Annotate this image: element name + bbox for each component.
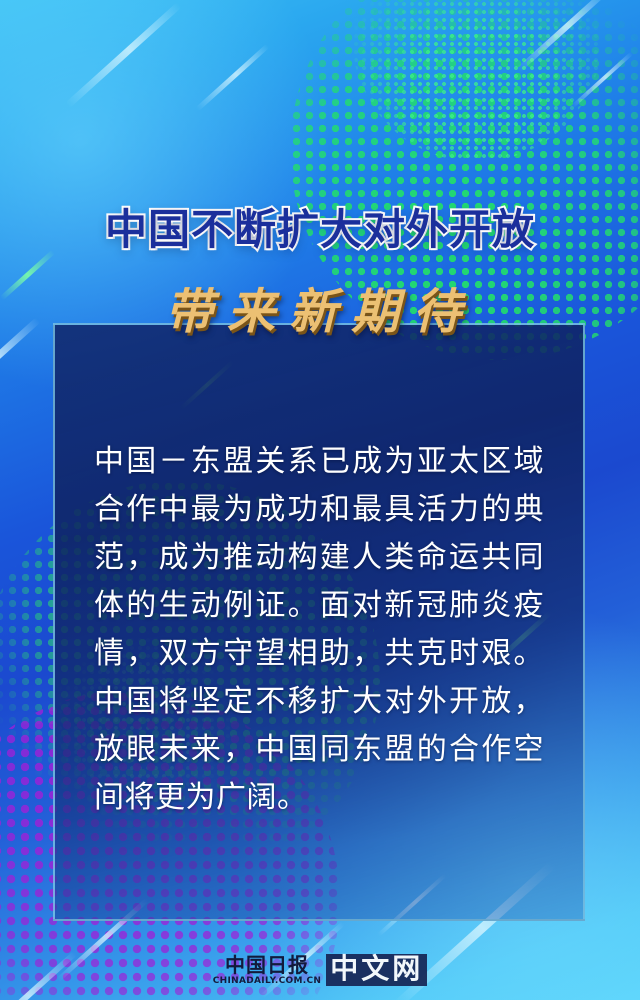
- chinese-site-logo: 中文网: [326, 954, 427, 986]
- poster-content: 中国不断扩大对外开放 带来新期待 中国－东盟关系已成为亚太区域合作中最为成功和最…: [0, 0, 640, 1000]
- footer-logo: 中国日报 CHINADAILY.COM.CN 中文网: [0, 954, 640, 986]
- china-daily-logo-zh: 中国日报: [225, 955, 309, 975]
- body-paragraph: 中国－东盟关系已成为亚太区域合作中最为成功和最具活力的典范，成为推动构建人类命运…: [94, 438, 544, 822]
- china-daily-logo-en: CHINADAILY.COM.CN: [213, 977, 321, 986]
- china-daily-logo: 中国日报 CHINADAILY.COM.CN: [213, 955, 321, 986]
- page-title: 中国不断扩大对外开放: [0, 196, 640, 257]
- page-subtitle: 带来新期待: [0, 272, 640, 342]
- poster-canvas: 中国不断扩大对外开放 带来新期待 中国－东盟关系已成为亚太区域合作中最为成功和最…: [0, 0, 640, 1000]
